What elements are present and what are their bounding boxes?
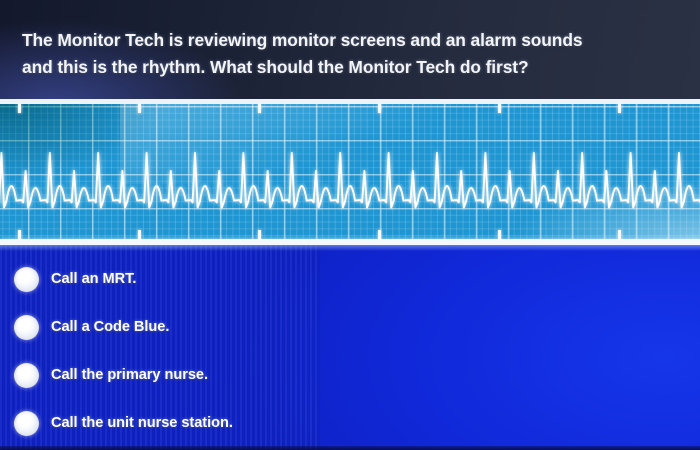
ecg-interval-tick (618, 104, 621, 113)
ecg-interval-tick (378, 230, 381, 239)
ecg-interval-tick (378, 104, 381, 113)
ecg-paper (0, 104, 700, 239)
answer-label-a: Call an MRT. (51, 271, 136, 287)
ecg-interval-tick (138, 104, 141, 113)
ecg-interval-tick (498, 230, 501, 239)
ecg-interval-tick (18, 104, 21, 113)
answer-option-a[interactable]: Call an MRT. (14, 262, 674, 296)
question-line-2: and this is the rhythm. What should the … (22, 54, 682, 81)
answer-label-d: Call the unit nurse station. (51, 415, 233, 431)
ecg-interval-tick (138, 230, 141, 239)
ecg-interval-tick (498, 104, 501, 113)
question-text: The Monitor Tech is reviewing monitor sc… (22, 27, 682, 81)
question-line-1: The Monitor Tech is reviewing monitor sc… (22, 27, 682, 54)
panel-top-sheen (0, 245, 700, 251)
question-panel: The Monitor Tech is reviewing monitor sc… (0, 0, 700, 99)
answer-option-c[interactable]: Call the primary nurse. (14, 358, 674, 392)
ecg-interval-tick (258, 104, 261, 113)
radio-button-c[interactable] (14, 363, 39, 388)
ecg-waveform (0, 104, 700, 239)
quiz-screen-photo: The Monitor Tech is reviewing monitor sc… (0, 0, 700, 450)
radio-button-d[interactable] (14, 411, 39, 436)
ecg-interval-tick (618, 230, 621, 239)
answer-option-b[interactable]: Call a Code Blue. (14, 310, 674, 344)
screen-bottom-edge (0, 446, 700, 450)
answer-label-b: Call a Code Blue. (51, 319, 169, 335)
ecg-interval-tick (18, 230, 21, 239)
answer-options-panel: Call an MRT. Call a Code Blue. Call the … (0, 245, 700, 450)
ecg-rhythm-strip (0, 99, 700, 245)
ecg-interval-tick (258, 230, 261, 239)
radio-button-b[interactable] (14, 315, 39, 340)
answer-label-c: Call the primary nurse. (51, 367, 208, 383)
answer-option-d[interactable]: Call the unit nurse station. (14, 406, 674, 440)
radio-button-a[interactable] (14, 267, 39, 292)
